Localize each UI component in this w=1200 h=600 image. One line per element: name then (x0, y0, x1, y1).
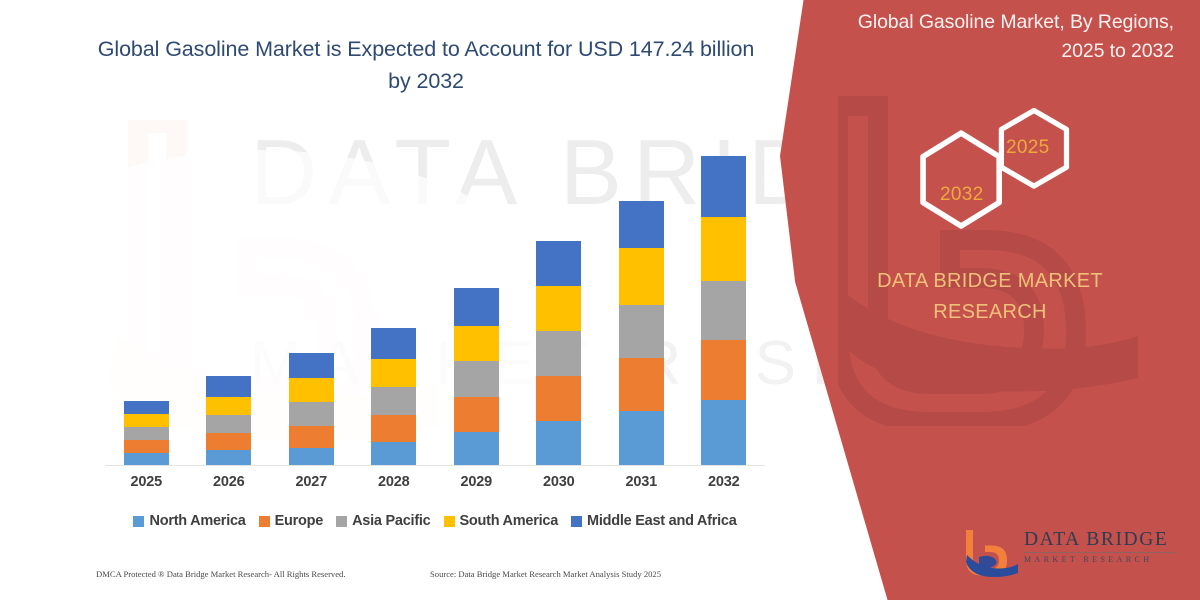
bar-segment[interactable] (701, 340, 746, 400)
branding-panel: Global Gasoline Market, By Regions, 2025… (780, 0, 1200, 600)
x-axis-tick-label: 2026 (188, 474, 271, 490)
bar-slot (600, 130, 683, 466)
x-axis: 20252026202720282029203020312032 (105, 474, 765, 490)
bar-segment[interactable] (454, 288, 499, 326)
company-logo: DATA BRIDGE MARKET RESEARCH (966, 527, 1182, 583)
hexagon-outlines-icon (892, 105, 1092, 235)
bar-segment[interactable] (536, 376, 581, 421)
bar-segment[interactable] (206, 397, 251, 415)
bar-segment[interactable] (454, 326, 499, 361)
stacked-bar[interactable] (619, 201, 664, 466)
x-axis-tick-label: 2031 (600, 474, 683, 490)
legend-item-label: Middle East and Africa (587, 513, 736, 529)
legend-color-swatch (259, 516, 270, 527)
legend-item-label: South America (460, 513, 559, 529)
bar-slot (353, 130, 436, 466)
bar-segment[interactable] (289, 353, 334, 378)
axis-baseline (105, 465, 765, 466)
stacked-bar[interactable] (124, 401, 169, 466)
bar-segment[interactable] (701, 217, 746, 281)
bar-slot (105, 130, 188, 466)
logo-wordmark: DATA BRIDGE MARKET RESEARCH (1024, 530, 1182, 564)
x-axis-tick-label: 2030 (518, 474, 601, 490)
bar-segment[interactable] (124, 414, 169, 427)
bar-slot (188, 130, 271, 466)
x-axis-tick-label: 2029 (435, 474, 518, 490)
panel-title: Global Gasoline Market, By Regions, 2025… (818, 8, 1174, 67)
bar-segment[interactable] (536, 286, 581, 331)
stacked-bar[interactable] (701, 156, 746, 466)
bar-slot (518, 130, 601, 466)
legend-item[interactable]: North America (133, 513, 245, 529)
bar-slot (683, 130, 766, 466)
legend-color-swatch (571, 516, 582, 527)
x-axis-tick-label: 2028 (353, 474, 436, 490)
year-range-hexagons: 2032 2025 (892, 105, 1092, 235)
hex-label-end-year: 2032 (940, 184, 983, 206)
brand-name: DATA BRIDGE MARKET RESEARCH (830, 266, 1150, 328)
logo-title: DATA BRIDGE (1024, 530, 1182, 550)
chart-legend: North AmericaEuropeAsia PacificSouth Ame… (105, 513, 765, 529)
legend-item-label: Asia Pacific (352, 513, 430, 529)
stacked-bar[interactable] (454, 288, 499, 466)
bar-segment[interactable] (289, 448, 334, 466)
legend-item[interactable]: Europe (259, 513, 323, 529)
stacked-bar[interactable] (289, 353, 334, 466)
bar-segment[interactable] (536, 331, 581, 376)
chart-panel: DATA BRIDGE MARKET RESEARCH Global Gasol… (0, 0, 860, 600)
bar-segment[interactable] (619, 201, 664, 248)
bar-segment[interactable] (371, 387, 416, 415)
bar-slot (435, 130, 518, 466)
copyright-notice: DMCA Protected ® Data Bridge Market Rese… (96, 569, 346, 579)
hex-label-start-year: 2025 (1006, 137, 1049, 159)
bar-segment[interactable] (206, 433, 251, 450)
legend-item[interactable]: Asia Pacific (336, 513, 430, 529)
x-axis-tick-label: 2027 (270, 474, 353, 490)
bar-segment[interactable] (454, 361, 499, 397)
bar-segment[interactable] (289, 426, 334, 448)
stacked-bar[interactable] (371, 328, 416, 466)
bar-group (105, 130, 765, 466)
legend-item[interactable]: Middle East and Africa (571, 513, 736, 529)
bar-segment[interactable] (701, 281, 746, 340)
legend-color-swatch (133, 516, 144, 527)
bar-segment[interactable] (124, 427, 169, 440)
bar-segment[interactable] (371, 415, 416, 442)
bar-segment[interactable] (371, 328, 416, 359)
legend-item-label: North America (149, 513, 245, 529)
bar-segment[interactable] (206, 450, 251, 466)
bar-segment[interactable] (124, 440, 169, 453)
x-axis-tick-label: 2032 (683, 474, 766, 490)
bar-segment[interactable] (536, 421, 581, 466)
bar-segment[interactable] (371, 359, 416, 387)
bar-segment[interactable] (454, 432, 499, 466)
logo-divider (1024, 552, 1176, 553)
plot-area (105, 130, 765, 466)
bar-segment[interactable] (206, 376, 251, 397)
bar-segment[interactable] (701, 400, 746, 466)
bar-segment[interactable] (371, 442, 416, 466)
x-axis-tick-label: 2025 (105, 474, 188, 490)
bar-segment[interactable] (536, 241, 581, 286)
bar-segment[interactable] (619, 305, 664, 358)
bar-segment[interactable] (206, 415, 251, 433)
legend-color-swatch (444, 516, 455, 527)
bar-segment[interactable] (289, 402, 334, 426)
legend-item[interactable]: South America (444, 513, 559, 529)
page-title: Global Gasoline Market is Expected to Ac… (90, 34, 762, 98)
bar-slot (270, 130, 353, 466)
bar-segment[interactable] (289, 378, 334, 402)
infographic-root: DATA BRIDGE MARKET RESEARCH Global Gasol… (0, 0, 1200, 600)
logo-subtitle: MARKET RESEARCH (1024, 555, 1182, 564)
bar-segment[interactable] (619, 248, 664, 305)
bar-segment[interactable] (619, 358, 664, 411)
bar-segment[interactable] (124, 401, 169, 414)
legend-item-label: Europe (275, 513, 323, 529)
bar-segment[interactable] (454, 397, 499, 432)
stacked-bar[interactable] (206, 376, 251, 466)
stacked-bar[interactable] (536, 241, 581, 466)
legend-color-swatch (336, 516, 347, 527)
source-notice: Source: Data Bridge Market Research Mark… (430, 569, 661, 579)
bar-segment[interactable] (701, 156, 746, 217)
bar-segment[interactable] (619, 411, 664, 466)
data-bridge-logo-icon (966, 529, 1018, 579)
